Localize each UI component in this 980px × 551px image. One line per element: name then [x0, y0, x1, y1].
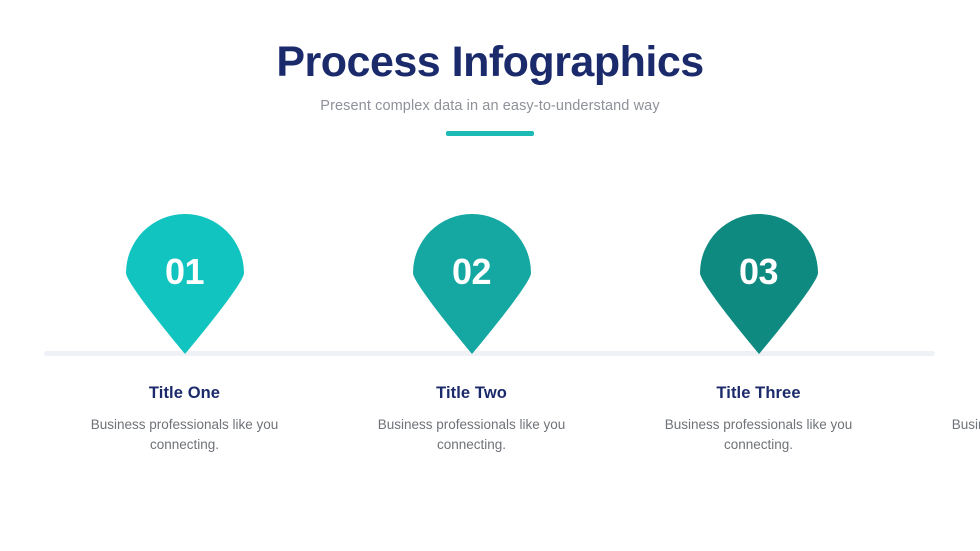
- page-title: Process Infographics: [0, 38, 980, 86]
- step-number: 03: [739, 254, 778, 290]
- step-description: Business professionals like you connecti…: [943, 415, 980, 454]
- step-number: 02: [452, 254, 491, 290]
- accent-bar: [446, 131, 534, 136]
- step-text-block: Title Three Business professionals like …: [656, 384, 861, 454]
- step-text-block: Title One Business professionals like yo…: [82, 384, 287, 454]
- step-description: Business professionals like you connecti…: [656, 415, 861, 454]
- step-item[interactable]: 01 Title One Business professionals like…: [82, 214, 287, 454]
- map-pin-icon: 01: [126, 214, 244, 354]
- step-text-block: Title Two Business professionals like yo…: [369, 384, 574, 454]
- step-item[interactable]: 02 Title Two Business professionals like…: [369, 214, 574, 454]
- map-pin-icon: 03: [700, 214, 818, 354]
- step-title: Title Three: [656, 384, 861, 403]
- step-title: Title Four: [943, 384, 980, 403]
- steps-container: 01 Title One Business professionals like…: [0, 214, 980, 454]
- step-title: Title Two: [369, 384, 574, 403]
- step-item[interactable]: 04 Title Four Business professionals lik…: [943, 214, 980, 454]
- step-item[interactable]: 03 Title Three Business professionals li…: [656, 214, 861, 454]
- step-description: Business professionals like you connecti…: [82, 415, 287, 454]
- map-pin-icon: 02: [413, 214, 531, 354]
- step-number: 01: [165, 254, 204, 290]
- step-title: Title One: [82, 384, 287, 403]
- infographic-slide: Process Infographics Present complex dat…: [0, 0, 980, 551]
- header: Process Infographics Present complex dat…: [0, 38, 980, 136]
- page-subtitle: Present complex data in an easy-to-under…: [0, 98, 980, 114]
- step-description: Business professionals like you connecti…: [369, 415, 574, 454]
- step-text-block: Title Four Business professionals like y…: [943, 384, 980, 454]
